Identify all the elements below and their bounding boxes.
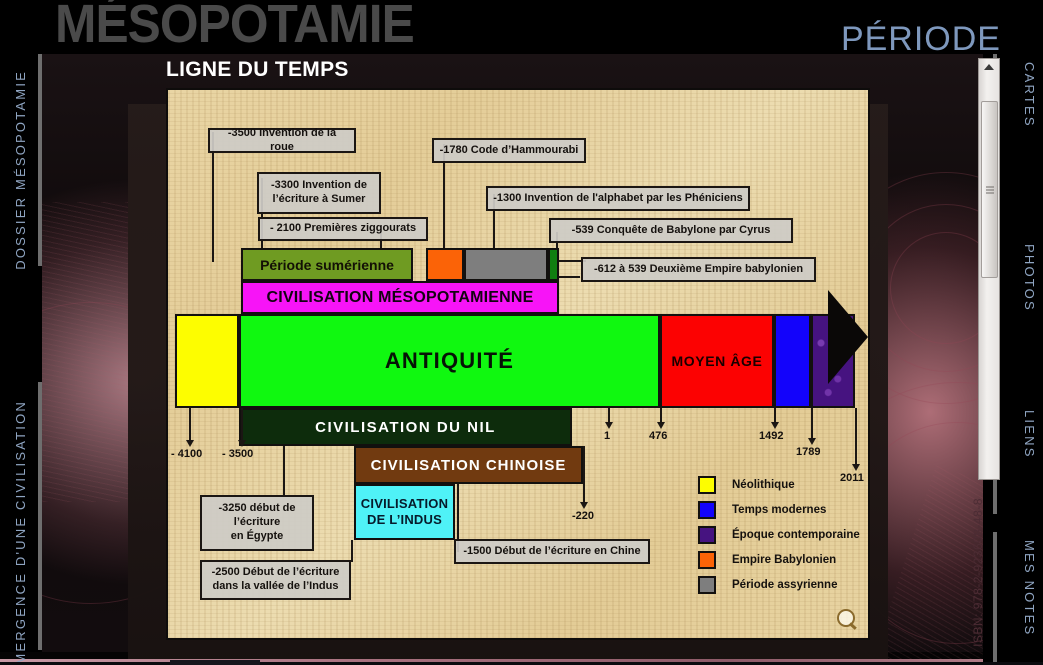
magnifier-icon[interactable] xyxy=(836,608,858,630)
band-label: Période sumérienne xyxy=(260,257,394,273)
era-temps-modernes[interactable] xyxy=(774,314,811,408)
sidebar-item-photos[interactable]: PHOTOS xyxy=(1022,244,1037,312)
event-label-line2: l’écriture xyxy=(234,516,280,530)
event-box-ecriture-chine[interactable]: -1500 Début de l’écriture en Chine xyxy=(454,539,650,564)
legend-item[interactable]: Période assyrienne xyxy=(698,572,860,597)
band-empire-babylonien[interactable] xyxy=(426,248,464,281)
event-label: -612 à 539 Deuxième Empire babylonien xyxy=(594,263,803,277)
axis-tick-label: -220 xyxy=(572,510,594,522)
band-label-line2: DE L’INDUS xyxy=(367,512,442,528)
vertical-scrollbar[interactable] xyxy=(978,58,1000,480)
legend-label: Période assyrienne xyxy=(732,579,837,591)
legend-swatch-epoque-contemporaine xyxy=(698,526,716,544)
event-box-cyrus[interactable]: -539 Conquête de Babylone par Cyrus xyxy=(549,218,793,243)
timeline-arrowhead-icon xyxy=(828,290,868,384)
event-label: - 2100 Premières ziggourats xyxy=(270,222,416,236)
event-label: -1780 Code d’Hammourabi xyxy=(440,144,579,158)
axis-tick-label: 476 xyxy=(649,430,667,442)
era-moyen-age[interactable]: MOYEN ÂGE xyxy=(660,314,774,408)
sidebar-item-dossier-mesopotamie[interactable]: DOSSIER MÉSOPOTAMIE xyxy=(13,70,28,270)
axis-tick-label: 1 xyxy=(604,430,610,442)
event-label: -1500 Début de l’écriture en Chine xyxy=(463,545,640,559)
band-label: CIVILISATION MÉSOPOTAMIENNE xyxy=(266,289,533,307)
band-civilisation-mesopotamienne[interactable]: CIVILISATION MÉSOPOTAMIENNE xyxy=(241,281,559,314)
era-label: ANTIQUITÉ xyxy=(385,348,514,374)
legend: Néolithique Temps modernes Époque contem… xyxy=(698,472,860,597)
event-label-line2: dans la vallée de l’Indus xyxy=(213,580,339,594)
event-box-deuxieme-empire-babylonien[interactable]: -612 à 539 Deuxième Empire babylonien xyxy=(581,257,816,282)
event-label-line1: -2500 Début de l’écriture xyxy=(212,566,340,580)
leader-line xyxy=(351,540,353,562)
legend-label: Empire Babylonien xyxy=(732,554,836,566)
event-label: -539 Conquête de Babylone par Cyrus xyxy=(572,224,771,238)
axis-tick-arrow-icon xyxy=(808,438,816,445)
event-box-ecriture-indus[interactable]: -2500 Début de l’écriture dans la vallée… xyxy=(200,560,351,600)
scrollbar-thumb[interactable] xyxy=(981,101,998,278)
axis-tick-arrow-icon xyxy=(771,422,779,429)
axis-tick-arrow-icon xyxy=(186,440,194,447)
event-box-hammourabi[interactable]: -1780 Code d’Hammourabi xyxy=(432,138,586,163)
legend-item[interactable]: Époque contemporaine xyxy=(698,522,860,547)
legend-swatch-empire-babylonien xyxy=(698,551,716,569)
axis-tick-arrow-icon xyxy=(580,502,588,509)
legend-label: Époque contemporaine xyxy=(732,529,860,541)
event-label-line1: -3250 début de xyxy=(218,502,295,516)
scrollbar-grip-icon xyxy=(986,184,994,195)
axis-tick-label: - 3500 xyxy=(222,448,253,460)
magnifier-handle xyxy=(849,622,857,629)
legend-swatch-periode-assyrienne xyxy=(698,576,716,594)
legend-item[interactable]: Néolithique xyxy=(698,472,860,497)
axis-tick-arrow-icon xyxy=(238,440,246,447)
app-brand-title: MÉSOPOTAMIE xyxy=(55,0,414,53)
scroll-up-button[interactable] xyxy=(979,59,999,75)
page-title: LIGNE DU TEMPS xyxy=(166,58,349,82)
axis-tick-arrow-icon xyxy=(605,422,613,429)
sidebar-item-liens[interactable]: LIENS xyxy=(1022,410,1037,459)
event-label-line3: en Égypte xyxy=(231,530,284,544)
axis-tick xyxy=(241,408,243,444)
axis-tick-arrow-icon xyxy=(852,464,860,471)
band-label-line1: CIVILISATION xyxy=(361,496,448,512)
band-label: CIVILISATION DU NIL xyxy=(315,419,496,436)
band-label: CIVILISATION CHINOISE xyxy=(371,457,567,474)
band-civilisation-chinoise[interactable]: CIVILISATION CHINOISE xyxy=(354,446,583,484)
band-periode-sumerienne[interactable]: Période sumérienne xyxy=(241,248,413,281)
band-civilisation-du-nil[interactable]: CIVILISATION DU NIL xyxy=(239,408,572,446)
scroll-up-arrow-icon xyxy=(984,64,994,70)
legend-swatch-neolithique xyxy=(698,476,716,494)
axis-tick-arrow-icon xyxy=(657,422,665,429)
event-box-ziggourats[interactable]: - 2100 Premières ziggourats xyxy=(258,217,428,241)
leader-line xyxy=(283,446,285,496)
band-civilisation-de-l-indus[interactable]: CIVILISATION DE L’INDUS xyxy=(354,484,455,540)
event-box-ecriture-sumer[interactable]: -3300 Invention de l’écriture à Sumer xyxy=(257,172,381,214)
sidebar-item-emergence-civilisation[interactable]: ÉMERGENCE D'UNE CIVILISATION xyxy=(13,400,28,665)
section-title: PÉRIODE xyxy=(841,20,1001,59)
era-neolithique[interactable] xyxy=(175,314,239,408)
band-periode-assyrienne[interactable] xyxy=(464,248,548,281)
event-box-roue[interactable]: -3500 Invention de la roue xyxy=(208,128,356,153)
left-navigation-rail: DOSSIER MÉSOPOTAMIE ÉMERGENCE D'UNE CIVI… xyxy=(0,52,42,652)
legend-swatch-temps-modernes xyxy=(698,501,716,519)
legend-label: Néolithique xyxy=(732,479,795,491)
legend-item[interactable]: Empire Babylonien xyxy=(698,547,860,572)
axis-tick-label: 1789 xyxy=(796,446,820,458)
axis-tick xyxy=(855,408,857,468)
sidebar-item-mes-notes[interactable]: MES NOTES xyxy=(1022,540,1037,636)
axis-tick xyxy=(583,446,585,506)
era-label: MOYEN ÂGE xyxy=(672,353,763,369)
app-header: MÉSOPOTAMIE PÉRIODE xyxy=(0,0,1043,54)
event-label-line1: -3300 Invention de xyxy=(271,179,367,193)
event-box-ecriture-egypte[interactable]: -3250 début de l’écriture en Égypte xyxy=(200,495,314,551)
event-label: -1300 Invention de l'alphabet par les Ph… xyxy=(493,192,743,206)
legend-label: Temps modernes xyxy=(732,504,826,516)
sidebar-item-cartes[interactable]: CARTES xyxy=(1022,62,1037,128)
application-window: MÉSOPOTAMIE PÉRIODE DOSSIER MÉSOPOTAMIE … xyxy=(0,0,1043,665)
axis-tick xyxy=(189,408,191,444)
axis-tick-label: 1492 xyxy=(759,430,783,442)
event-label: -3500 Invention de la roue xyxy=(215,127,349,155)
era-antiquite[interactable]: ANTIQUITÉ xyxy=(239,314,660,408)
axis-tick xyxy=(811,408,813,442)
taskbar-item[interactable] xyxy=(170,660,260,665)
event-label-line2: l’écriture à Sumer xyxy=(273,193,366,207)
axis-tick-label: - 4100 xyxy=(171,448,202,460)
band-deuxieme-empire-babylonien[interactable] xyxy=(548,248,559,281)
event-box-alphabet[interactable]: -1300 Invention de l'alphabet par les Ph… xyxy=(486,186,750,211)
legend-item[interactable]: Temps modernes xyxy=(698,497,860,522)
timeline-figure[interactable]: -3500 Invention de la roue -3300 Inventi… xyxy=(166,88,870,640)
